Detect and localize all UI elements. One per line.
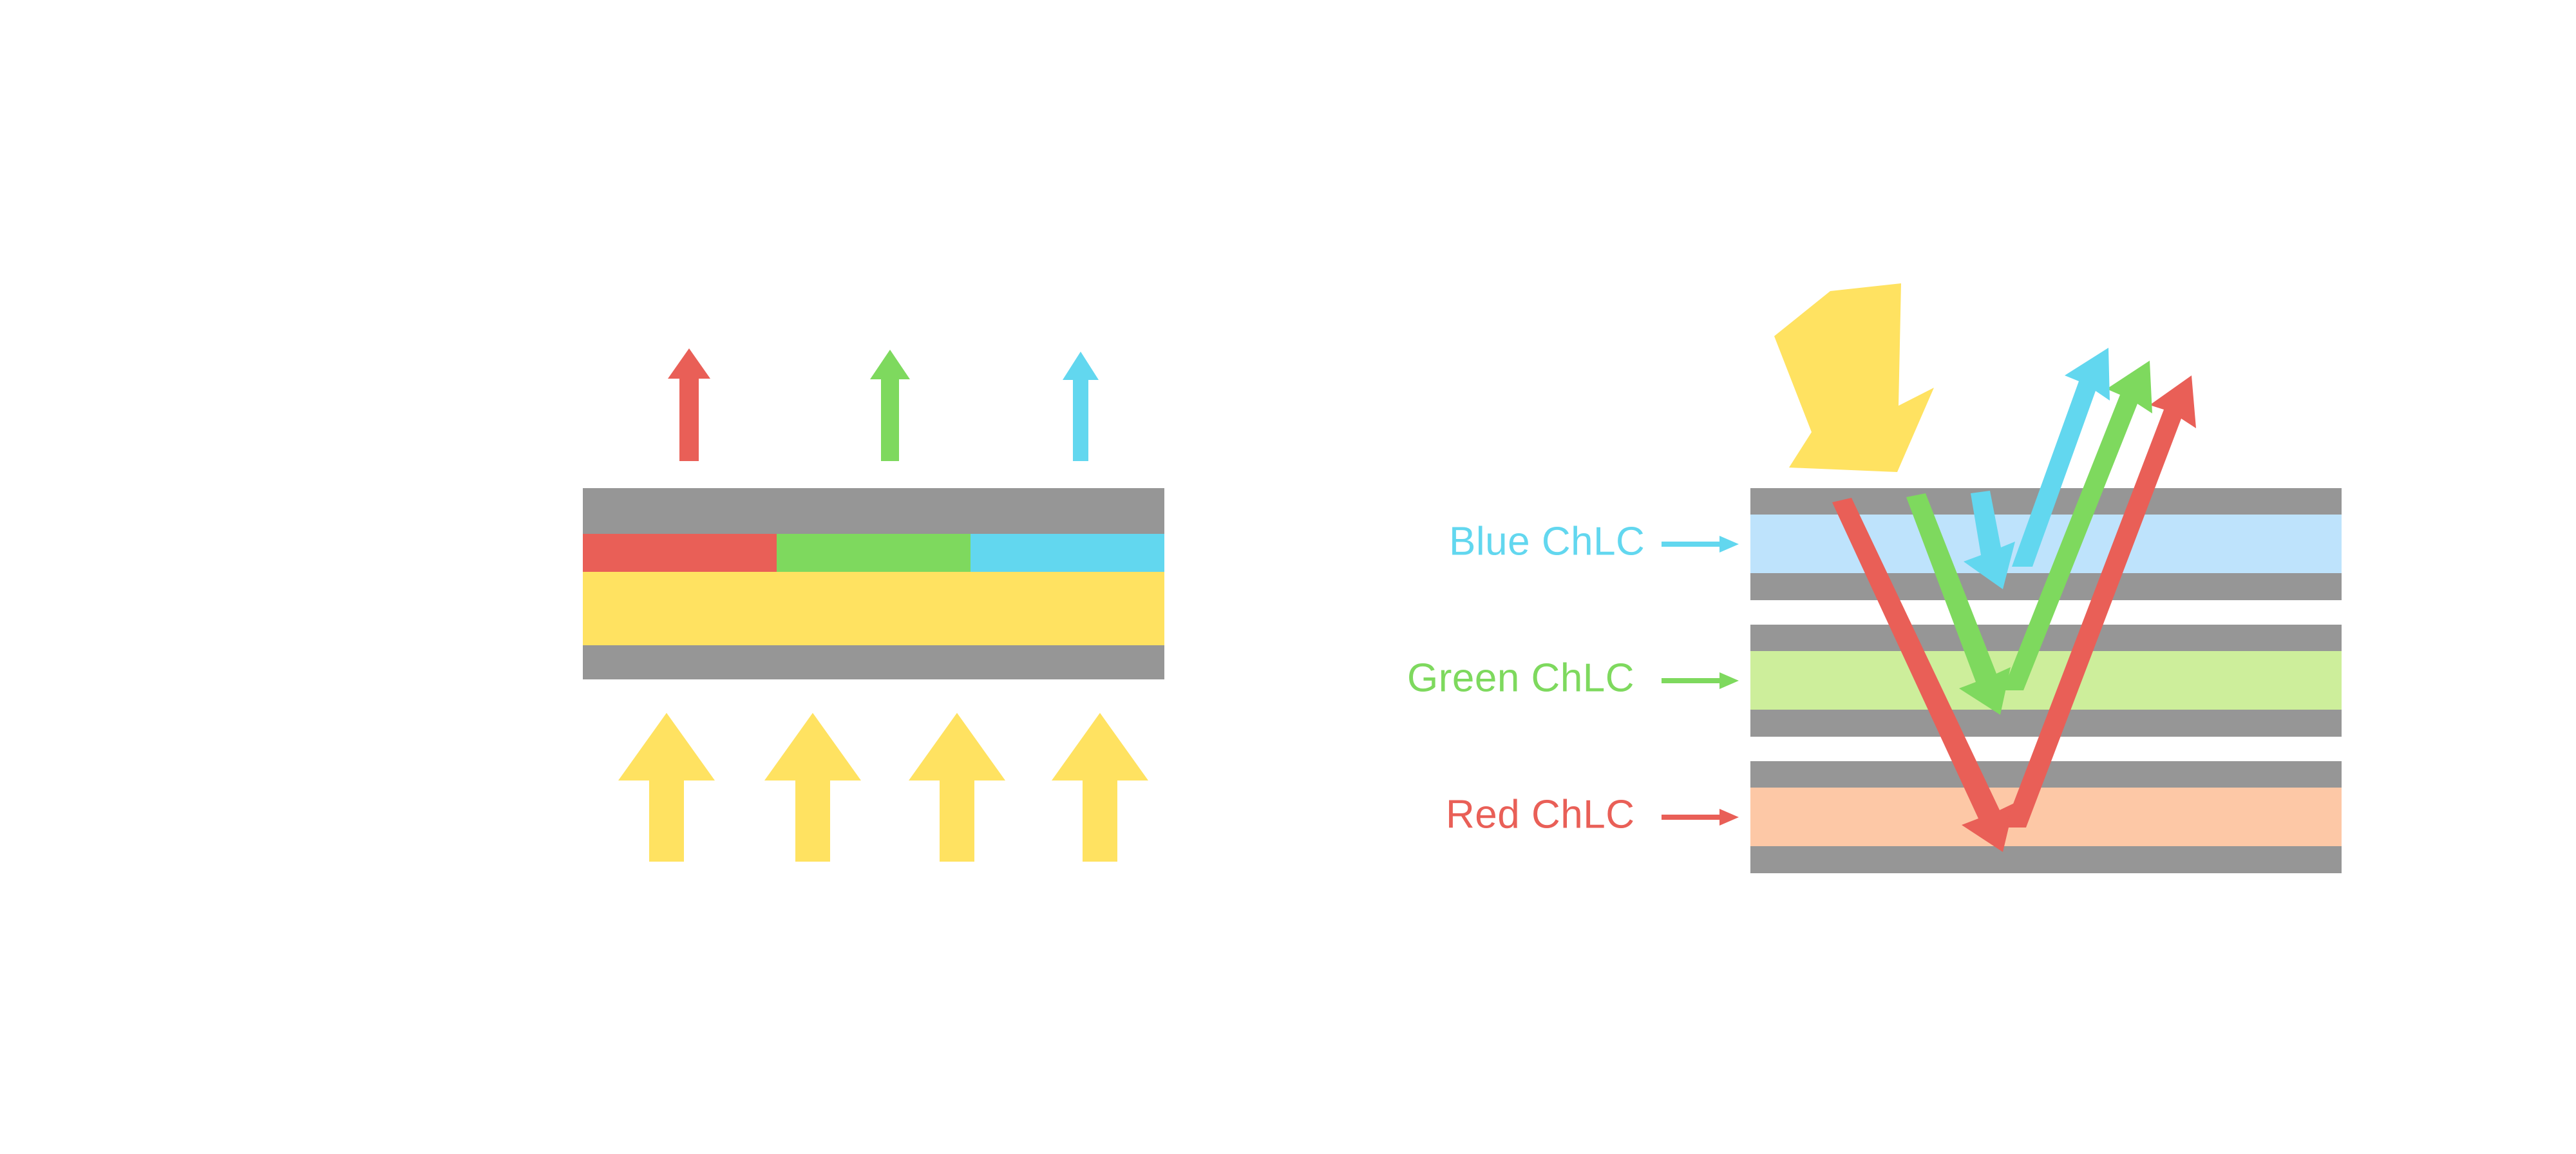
blue-chlc-label: Blue ChLC <box>1449 519 1645 563</box>
bottom-electrode-layer <box>583 645 1164 679</box>
green-filter-segment <box>777 534 971 572</box>
backlight-layer <box>583 572 1164 645</box>
chlc-display-diagram: Blue ChLC Green ChLC Red ChLC <box>0 0 2576 1154</box>
red-cell-lc-layer <box>1750 788 2342 846</box>
green-cell-lc-layer <box>1750 651 2342 710</box>
red-chlc-cell <box>1750 761 2342 873</box>
left-stack-group <box>583 488 1164 679</box>
red-cell-bottom-electrode <box>1750 846 2342 873</box>
green-chlc-label: Green ChLC <box>1407 656 1634 700</box>
top-electrode-layer <box>583 488 1164 534</box>
red-chlc-label: Red ChLC <box>1446 792 1634 837</box>
cyan-filter-segment <box>971 534 1164 572</box>
red-filter-segment <box>583 534 777 572</box>
figure-root: Blue ChLC Green ChLC Red ChLC <box>0 0 2576 1154</box>
